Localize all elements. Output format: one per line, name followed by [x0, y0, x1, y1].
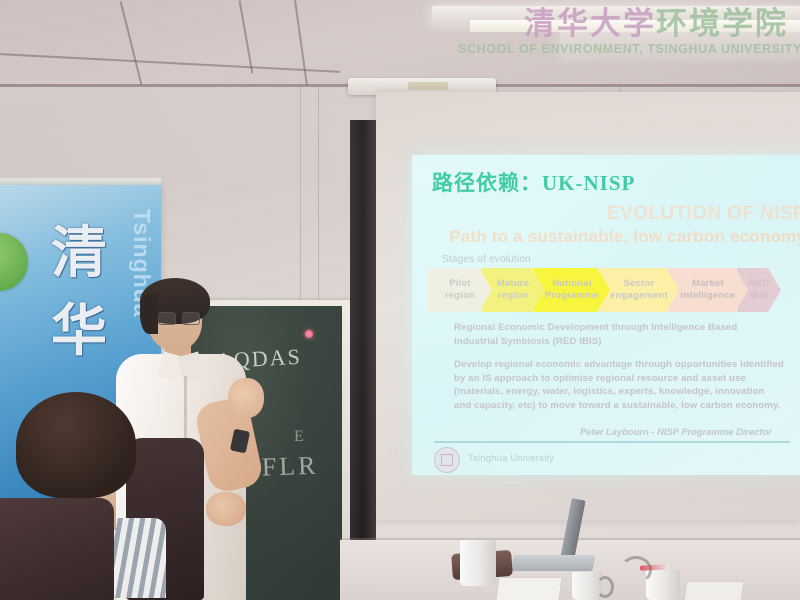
stage-chevron-5: Marketintelligence — [668, 268, 748, 312]
laptop-base — [510, 555, 595, 571]
slide-footer: Tsinghua University — [468, 453, 554, 464]
slide-attribution: Peter Laybourn - NISP Programme Director — [580, 426, 772, 437]
stage-chevron-label: Matureregion — [491, 278, 535, 302]
stage-chevron-label: Pilotregion — [439, 278, 481, 302]
wall-recess-gap — [350, 120, 376, 600]
wall-seam — [300, 86, 301, 306]
white-cup — [460, 540, 496, 586]
stages-chevron-row: PilotregionMatureregionNationalProgramme… — [428, 268, 800, 312]
stage-chevron-1: Pilotregion — [428, 268, 492, 312]
presenter-hand-lower — [206, 492, 246, 526]
tsinghua-seal-icon — [434, 447, 460, 473]
papers — [685, 582, 744, 600]
lecture-photo-scene: 清 华 Tsinghua AQDAS E AFLR 路径依赖：UK-NISP E… — [0, 0, 800, 600]
presenter-hand-raised — [228, 378, 264, 418]
stage-chevron-label: Sectorengagement — [604, 278, 674, 302]
stage-chevron-3: NationalProgramme — [534, 268, 610, 312]
wall-seam — [318, 86, 319, 300]
chair-back-left — [0, 498, 114, 600]
slide-paragraph-1: Regional Economic Development through In… — [454, 321, 784, 348]
stage-chevron-4: Sectorengagement — [599, 268, 679, 312]
slide-divider — [434, 441, 790, 443]
laser-pointer-dot — [305, 330, 313, 338]
slide-heading: EVOLUTION OF NISP — [607, 203, 800, 225]
stage-chevron-label: Marketintelligence — [675, 278, 742, 302]
slide-subheading: Path to a sustainable, low carbon econom… — [449, 227, 800, 247]
presenter-hair-side — [140, 294, 158, 334]
slide-title-chinese: 路径依赖：UK-NISP — [432, 167, 635, 197]
papers — [496, 578, 561, 600]
projected-slide: 路径依赖：UK-NISP EVOLUTION OF NISP Path to a… — [412, 155, 800, 475]
housing-badge — [408, 82, 448, 90]
mug-handle — [596, 576, 614, 598]
glasses-icon — [158, 312, 200, 323]
cable-loop — [620, 556, 652, 584]
ceiling-light-panel — [560, 30, 800, 56]
slide-paragraph-2: Develop regional economic advantage thro… — [454, 358, 784, 412]
chalk-text-e: E — [294, 428, 304, 446]
stages-label: Stages of evolution — [442, 254, 531, 265]
audience-hair — [16, 392, 136, 498]
stage-chevron-label: NationalProgramme — [539, 278, 606, 302]
